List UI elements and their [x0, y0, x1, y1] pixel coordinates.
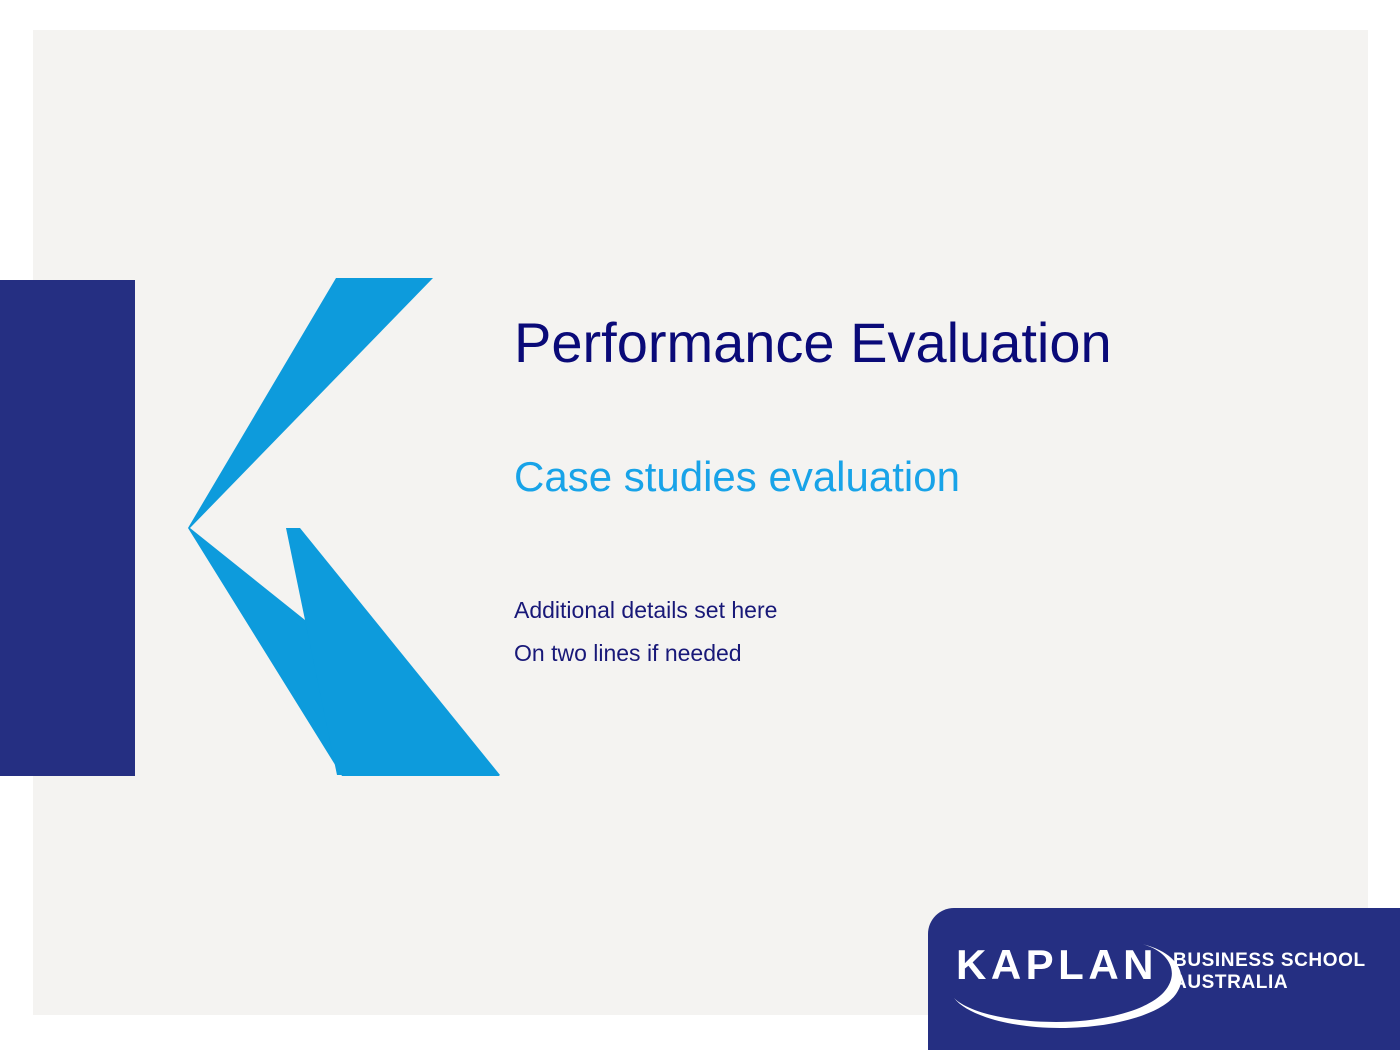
slide-text-block: Performance Evaluation Case studies eval…	[514, 312, 1314, 675]
kaplan-tagline-line-2: AUSTRALIA	[1173, 972, 1366, 994]
kaplan-tagline: BUSINESS SCHOOL AUSTRALIA	[1173, 950, 1366, 995]
cyan-chevron-lower-leg	[286, 528, 500, 775]
slide-root: Performance Evaluation Case studies eval…	[0, 0, 1400, 1050]
detail-line-1: Additional details set here	[514, 589, 1314, 632]
kaplan-wordmark: KAPLAN	[956, 944, 1158, 986]
slide-details: Additional details set here On two lines…	[514, 501, 1314, 675]
navy-block-shape	[0, 280, 135, 776]
kaplan-tagline-line-1: BUSINESS SCHOOL	[1173, 950, 1366, 972]
brand-mark-graphic	[0, 278, 510, 778]
detail-line-2: On two lines if needed	[514, 632, 1314, 675]
page-title: Performance Evaluation	[514, 312, 1314, 375]
kaplan-logo-plate: KAPLAN BUSINESS SCHOOL AUSTRALIA	[928, 908, 1400, 1050]
page-subtitle: Case studies evaluation	[514, 375, 1314, 501]
